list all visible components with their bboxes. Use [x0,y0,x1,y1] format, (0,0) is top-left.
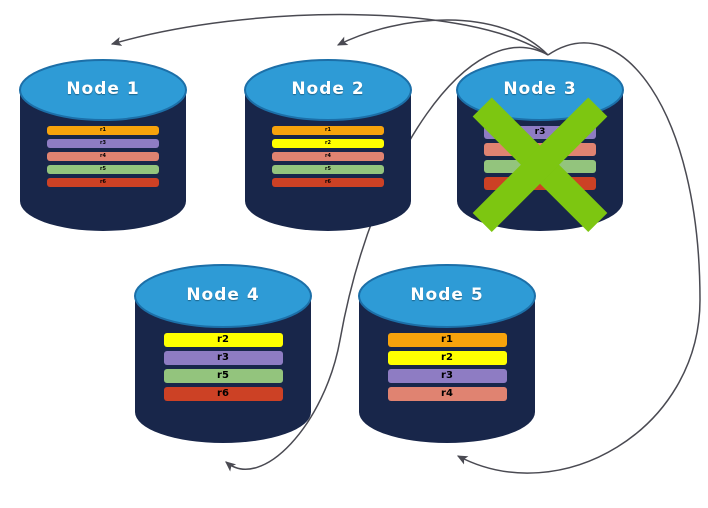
replica-row-r3[interactable]: r3 [484,126,596,139]
replica-row-list: r3 [455,126,625,194]
replica-row-r6[interactable]: r6 [272,178,384,187]
cylinder-top-ellipse [245,60,411,120]
replica-row-r4[interactable] [484,143,596,156]
replica-row-r4[interactable]: r4 [388,387,507,401]
replica-row-r2[interactable]: r2 [272,139,384,148]
diagram-canvas: Node 1r1r3r4r5r6Node 2r1r2r4r5r6Node 3r3… [0,0,708,508]
replica-row-r3[interactable]: r3 [47,139,159,148]
database-node-5[interactable]: Node 5r1r2r3r4 [357,263,537,445]
database-node-2[interactable]: Node 2r1r2r4r5r6 [243,58,413,233]
arrow-node3-to-node2 [338,20,548,55]
replica-row-r5[interactable]: r5 [272,165,384,174]
replica-row-r1[interactable]: r1 [388,333,507,347]
cylinder-top-ellipse [135,265,311,327]
replica-row-r3[interactable]: r3 [164,351,283,365]
replica-row-r3[interactable]: r3 [388,369,507,383]
replica-row-r6[interactable]: r6 [47,178,159,187]
replica-row-r4[interactable]: r4 [272,152,384,161]
replica-row-list: r1r2r3r4 [357,333,537,405]
replica-row-r4[interactable]: r4 [47,152,159,161]
arrow-node3-to-node1 [112,15,548,55]
database-node-1[interactable]: Node 1r1r3r4r5r6 [18,58,188,233]
cylinder-top-ellipse [20,60,186,120]
replica-row-list: r1r2r4r5r6 [243,126,413,191]
replica-row-r5[interactable]: r5 [164,369,283,383]
replica-row-r2[interactable]: r2 [164,333,283,347]
database-node-4[interactable]: Node 4r2r3r5r6 [133,263,313,445]
replica-row-list: r1r3r4r5r6 [18,126,188,191]
cylinder-top-ellipse [359,265,535,327]
replica-row-r2[interactable]: r2 [388,351,507,365]
replica-row-r1[interactable]: r1 [272,126,384,135]
cylinder-top-ellipse [457,60,623,120]
replica-row-r5[interactable] [484,160,596,173]
replica-row-r6[interactable] [484,177,596,190]
replica-row-list: r2r3r5r6 [133,333,313,405]
replica-row-r5[interactable]: r5 [47,165,159,174]
replica-row-r6[interactable]: r6 [164,387,283,401]
database-node-3[interactable]: Node 3r3 [455,58,625,233]
replica-row-r1[interactable]: r1 [47,126,159,135]
